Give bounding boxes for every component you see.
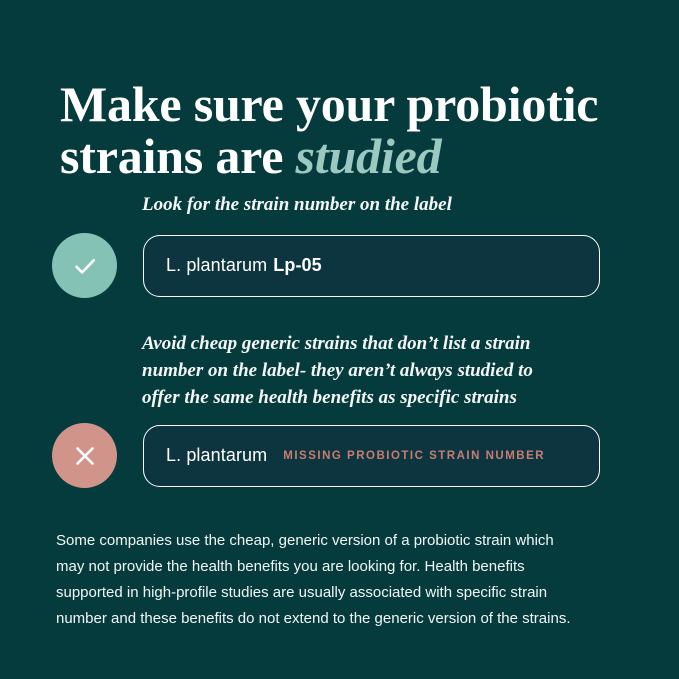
- missing-strain-number-badge: MISSING PROBIOTIC STRAIN NUMBER: [283, 450, 545, 462]
- footnote-paragraph: Some companies use the cheap, generic ve…: [56, 528, 616, 632]
- good-example-note: Look for the strain number on the label: [142, 192, 612, 218]
- bad-example-row: L. plantarum MISSING PROBIOTIC STRAIN NU…: [52, 423, 600, 488]
- footnote-line-4: number and these benefits do not extend …: [56, 606, 616, 632]
- headline-line-1: Make sure your probiotic: [60, 76, 598, 132]
- bad-note-line-2: number on the label- they aren’t always …: [142, 357, 582, 384]
- bad-note-line-3: offer the same health benefits as specif…: [142, 384, 582, 411]
- check-icon: [52, 233, 117, 298]
- good-example-row: L. plantarum Lp-05: [52, 233, 600, 298]
- bad-note-line-1: Avoid cheap generic strains that don’t l…: [142, 330, 582, 357]
- bad-strain-pill: L. plantarum MISSING PROBIOTIC STRAIN NU…: [143, 425, 600, 487]
- good-strain-pill: L. plantarum Lp-05: [143, 235, 600, 297]
- bad-strain-name: L. plantarum: [166, 445, 267, 466]
- footnote-line-3: supported in high-profile studies are us…: [56, 580, 616, 606]
- bad-example-note: Avoid cheap generic strains that don’t l…: [142, 330, 582, 411]
- footnote-line-2: may not provide the health benefits you …: [56, 554, 616, 580]
- headline-accent-word: studied: [296, 128, 442, 184]
- good-strain-name: L. plantarum: [166, 255, 267, 276]
- good-strain-code: Lp-05: [273, 255, 322, 276]
- x-icon: [52, 423, 117, 488]
- page-title: Make sure your probiotic strains are stu…: [60, 78, 640, 182]
- footnote-line-1: Some companies use the cheap, generic ve…: [56, 528, 616, 554]
- headline-line-2-plain: strains are: [60, 128, 296, 184]
- infographic-card: Make sure your probiotic strains are stu…: [0, 0, 679, 679]
